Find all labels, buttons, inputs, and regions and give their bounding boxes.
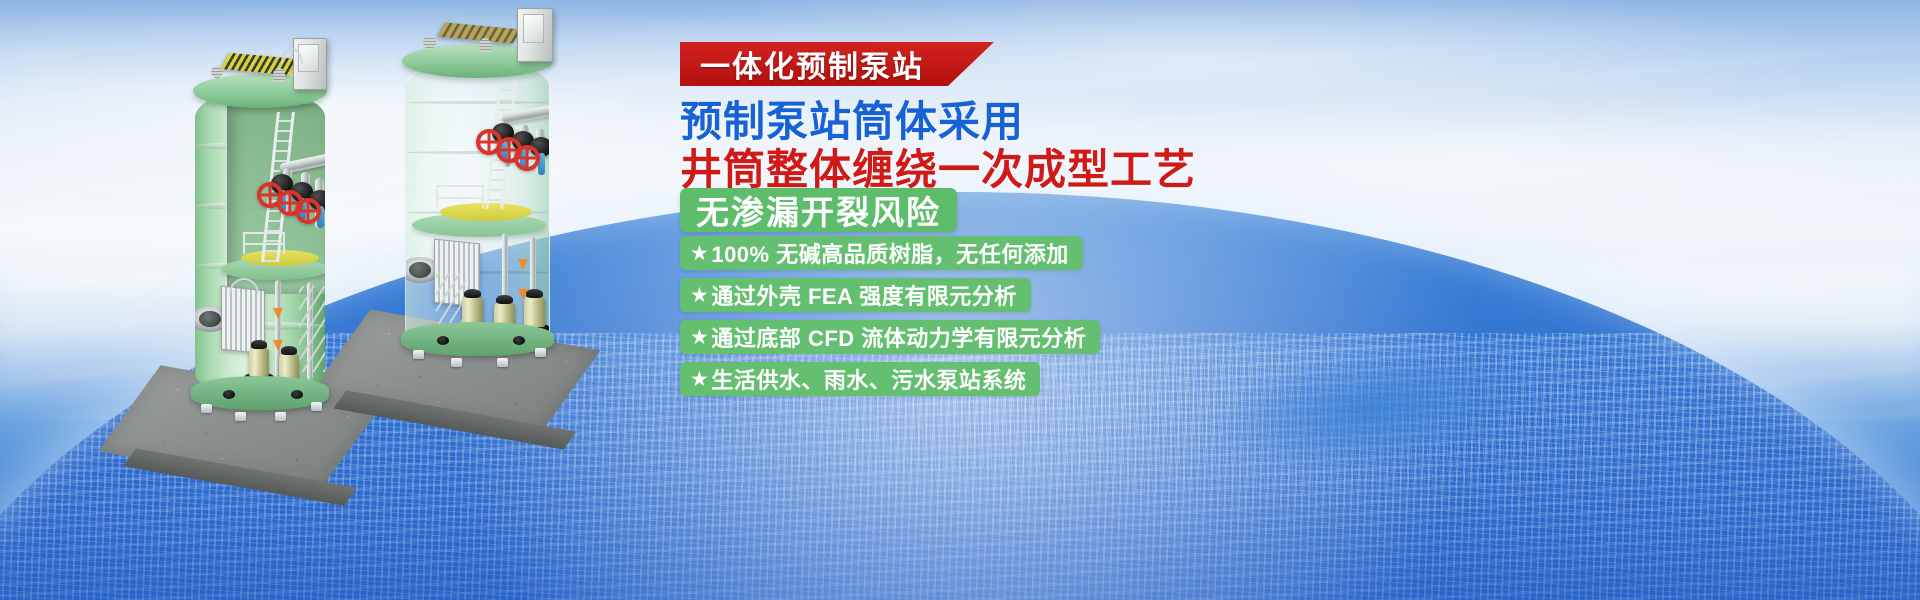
feature-item-4: ★ 生活供水、雨水、污水泵站系统 bbox=[680, 362, 1040, 396]
feature-item-2: ★ 通过外壳 FEA 强度有限元分析 bbox=[680, 278, 1031, 312]
promo-banner: 一体化预制泵站 预制泵站筒体采用 井筒整体缠绕一次成型工艺 无渗漏开裂风险 ★ … bbox=[0, 0, 1920, 600]
base-port-transparent-1 bbox=[437, 336, 449, 345]
product-category-tag-label: 一体化预制泵站 bbox=[700, 42, 924, 86]
feature-item-3-label: 通过底部 CFD 流体动力学有限元分析 bbox=[711, 321, 1086, 353]
platform-railing-transparent bbox=[436, 185, 484, 209]
bottom-spiral-opaque bbox=[299, 286, 325, 372]
submersible-pump-transparent-3 bbox=[524, 297, 545, 327]
anchor-bolt-opaque-2 bbox=[235, 412, 246, 421]
star-icon: ★ bbox=[690, 243, 709, 264]
anchor-bolt-transparent-3 bbox=[497, 358, 508, 367]
platform-railing-opaque bbox=[243, 232, 285, 254]
feature-row: ★ 通过外壳 FEA 强度有限元分析 bbox=[680, 278, 1100, 320]
feature-row: ★ 生活供水、雨水、污水泵站系统 bbox=[680, 362, 1100, 404]
feature-list: ★ 100% 无碱高品质树脂，无任何添加 ★ 通过外壳 FEA 强度有限元分析 … bbox=[680, 236, 1100, 404]
star-icon: ★ bbox=[690, 285, 709, 306]
control-cabinet-transparent bbox=[517, 8, 553, 62]
tank-shell-opaque bbox=[195, 90, 325, 395]
anchor-bolt-transparent-1 bbox=[413, 350, 424, 359]
flow-arrow-opaque-1 bbox=[273, 308, 283, 319]
roof-vent-opaque-2 bbox=[273, 68, 285, 82]
base-port-opaque-1 bbox=[223, 390, 235, 399]
base-port-transparent-2 bbox=[513, 336, 525, 345]
key-benefit-badge-label: 无渗漏开裂风险 bbox=[696, 186, 941, 234]
tank-shell-transparent bbox=[405, 60, 550, 350]
valve-handwheel-opaque-3 bbox=[295, 198, 321, 224]
feature-item-4-label: 生活供水、雨水、污水泵站系统 bbox=[711, 363, 1026, 395]
feature-item-1-label: 100% 无碱高品质树脂，无任何添加 bbox=[711, 237, 1068, 269]
feature-item-2-label: 通过外壳 FEA 强度有限元分析 bbox=[711, 279, 1016, 311]
anchor-bolt-transparent-4 bbox=[535, 348, 546, 357]
marketing-copy-block: 一体化预制泵站 预制泵站筒体采用 井筒整体缠绕一次成型工艺 无渗漏开裂风险 ★ … bbox=[668, 0, 1868, 600]
feature-item-1: ★ 100% 无碱高品质树脂，无任何添加 bbox=[680, 236, 1083, 270]
pump-station-transparent bbox=[405, 60, 550, 350]
base-port-opaque-2 bbox=[291, 390, 303, 399]
product-illustration-group bbox=[0, 0, 680, 600]
roof-vent-transparent-2 bbox=[479, 38, 491, 52]
roof-vent-opaque bbox=[211, 66, 223, 78]
anchor-bolt-transparent-2 bbox=[451, 358, 462, 367]
star-icon: ★ bbox=[690, 327, 709, 348]
control-cabinet-opaque bbox=[293, 38, 327, 90]
roof-vent-transparent bbox=[423, 36, 436, 49]
feature-row: ★ 通过底部 CFD 流体动力学有限元分析 bbox=[680, 320, 1100, 362]
key-benefit-badge: 无渗漏开裂风险 bbox=[680, 188, 957, 232]
anchor-bolt-opaque-4 bbox=[311, 402, 322, 411]
valve-handwheel-transparent-3 bbox=[514, 145, 540, 171]
product-category-tag: 一体化预制泵站 bbox=[680, 42, 994, 86]
feature-item-3: ★ 通过底部 CFD 流体动力学有限元分析 bbox=[680, 320, 1100, 354]
pump-station-opaque bbox=[195, 90, 325, 395]
star-icon: ★ bbox=[690, 369, 709, 390]
submersible-pump-opaque-1 bbox=[249, 348, 269, 376]
feature-row: ★ 100% 无碱高品质树脂，无任何添加 bbox=[680, 236, 1100, 278]
anchor-bolt-opaque-1 bbox=[201, 404, 212, 413]
flow-arrow-transparent-1 bbox=[518, 259, 528, 270]
anchor-bolt-opaque-3 bbox=[275, 412, 286, 421]
